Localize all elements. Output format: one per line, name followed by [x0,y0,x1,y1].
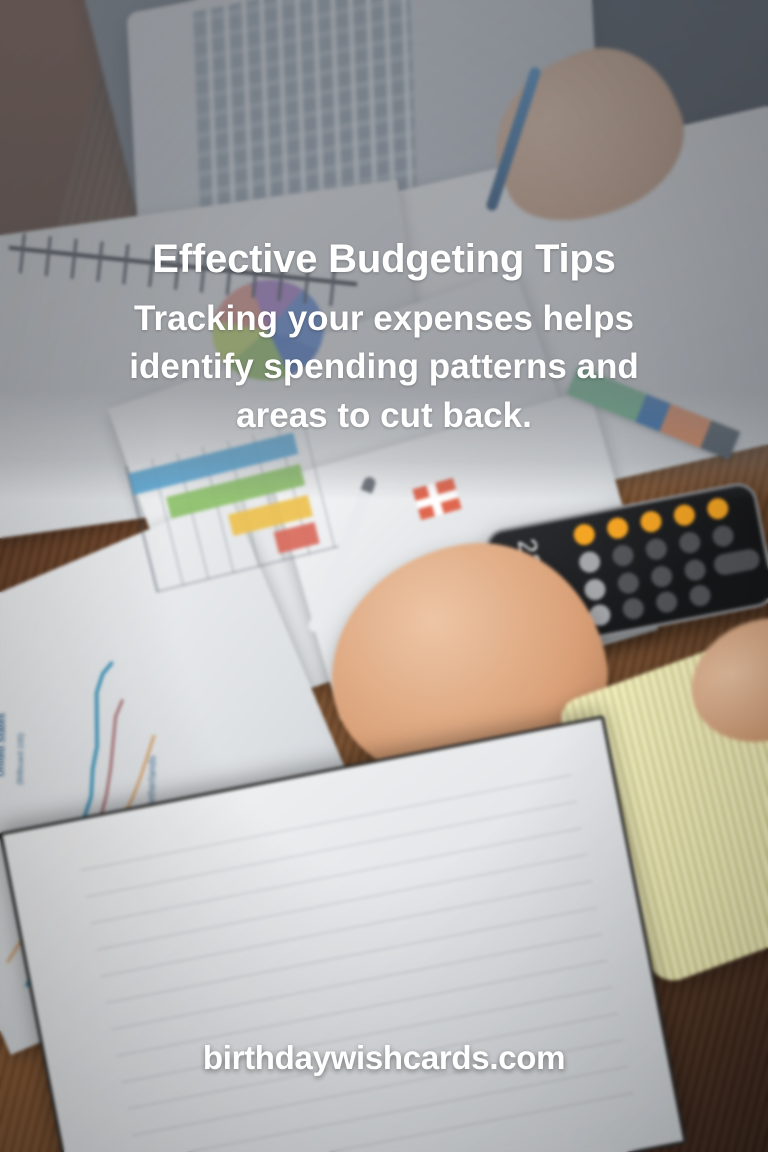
greeting-card-image: 80 85 90 95 2000 United States (Billboar… [0,0,768,1152]
card-body-line-3: areas to cut back. [40,393,728,439]
calculator-keypad[interactable] [572,490,768,630]
calculator-key-6[interactable] [644,537,669,562]
calculator-key-7[interactable] [621,596,646,621]
calculator-key-9[interactable] [611,543,636,568]
series-label-united-states: United States [0,713,8,777]
calculator-key-divide[interactable] [572,522,597,547]
series-sublabel-billboard: (Billboard 100) [15,733,25,785]
calculator-key-2[interactable] [683,558,708,583]
calculator-key-dot[interactable] [711,524,736,549]
calculator-key-plus[interactable] [672,503,697,528]
calculator-key-multiply[interactable] [605,516,630,541]
calculator-key-3[interactable] [677,530,702,555]
calculator-key-8[interactable] [616,571,641,596]
background-photo: 80 85 90 95 2000 United States (Billboar… [0,0,768,1152]
card-headline: Effective Budgeting Tips [40,236,728,283]
handwritten-notes [76,752,638,1152]
calculator-key-4[interactable] [654,590,679,615]
card-body-line-2: identify spending patterns and [40,344,728,390]
calculator-key-minus[interactable] [639,509,664,534]
calculator-key-1[interactable] [688,583,713,608]
calculator-key-percent[interactable] [577,550,602,575]
card-body-line-1: Tracking your expenses helps [40,296,728,342]
calculator-key-5[interactable] [649,564,674,589]
calculator-key-equals[interactable] [705,496,730,521]
card-text-block: Effective Budgeting Tips Tracking your e… [0,236,768,439]
footer-website-url[interactable]: birthdaywishcards.com [0,1039,768,1077]
calculator-key-plusminus[interactable] [583,577,608,602]
calculator-key-0[interactable] [712,547,761,576]
